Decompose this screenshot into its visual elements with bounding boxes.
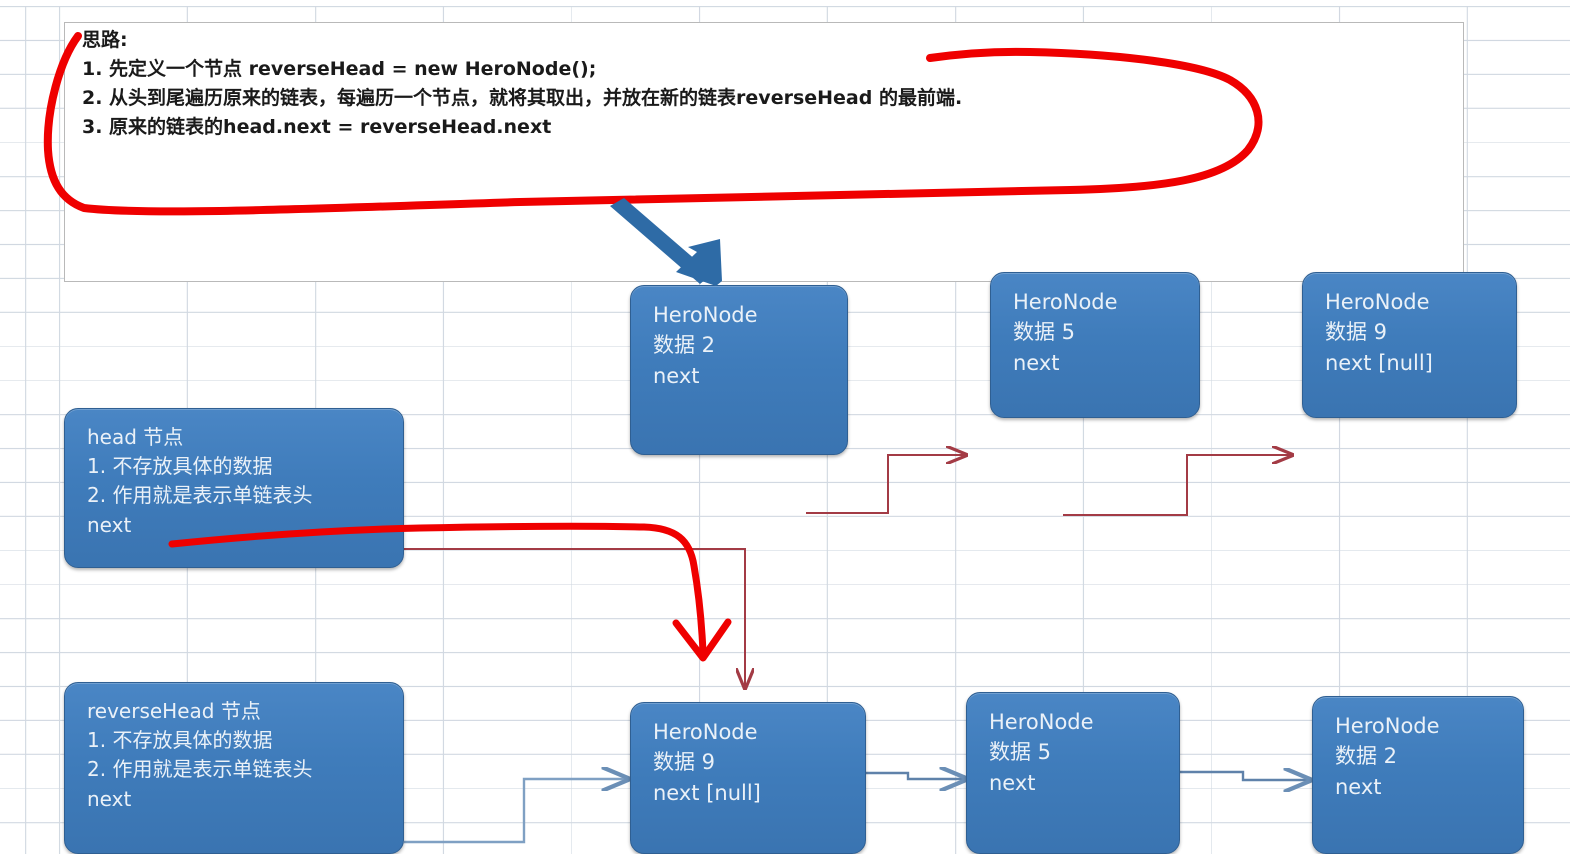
red-arrow-head-next (172, 526, 703, 652)
red-loop-annotation (48, 36, 1259, 211)
blue-arrow-annotation (610, 198, 722, 286)
annotation-layer (0, 0, 1570, 854)
diagram-canvas: 思路: 1. 先定义一个节点 reverseHead = new HeroNod… (0, 0, 1570, 854)
